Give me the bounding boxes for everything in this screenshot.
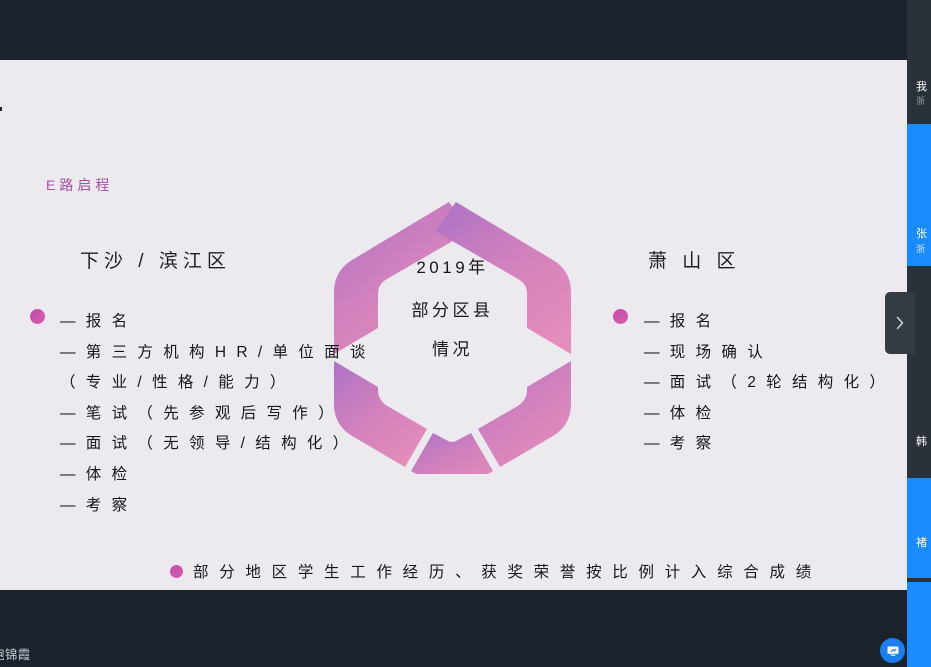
bottom-bar <box>0 590 907 667</box>
meeting-window: E路启程 <box>0 0 931 667</box>
bullet-dot-footer <box>170 565 183 578</box>
participant-name: 我 <box>916 82 927 93</box>
collapse-panel-button[interactable] <box>885 292 915 354</box>
participant-tile[interactable]: 我 浙 <box>907 60 931 124</box>
column-list-left: — 报 名 — 第 三 方 机 构 H R / 单 位 面 谈 （ 专 业 / … <box>60 307 368 521</box>
list-item: — 体 检 <box>60 460 368 491</box>
column-heading-left: 下沙 / 滨江区 <box>80 246 231 273</box>
shared-slide[interactable]: E路启程 <box>0 60 907 590</box>
list-item: — 笔 试 （ 先 参 观 后 写 作 ） <box>60 399 368 430</box>
participant-name: 张 <box>916 229 927 240</box>
participant-name: 韩 <box>916 437 927 448</box>
list-item: — 考 察 <box>644 429 888 460</box>
list-item: （ 专 业 / 性 格 / 能 力 ） <box>60 368 368 399</box>
bullet-dot-left <box>30 309 45 324</box>
participant-subtitle: 浙 <box>916 245 925 254</box>
participant-tile[interactable]: 韩 <box>907 416 931 478</box>
list-item: — 面 试 （ 2 轮 结 构 化 ） <box>644 368 888 399</box>
list-item: — 第 三 方 机 构 H R / 单 位 面 谈 <box>60 338 368 369</box>
participant-tile[interactable] <box>907 582 931 667</box>
column-list-right: — 报 名 — 现 场 确 认 — 面 试 （ 2 轮 结 构 化 ） — 体 … <box>644 307 888 460</box>
list-item: — 报 名 <box>60 307 368 338</box>
screen-share-icon <box>886 644 900 658</box>
slide-edge-marker <box>0 107 2 111</box>
list-item: — 体 检 <box>644 399 888 430</box>
participant-tile[interactable]: 张 浙 <box>907 124 931 266</box>
screen-share-button[interactable] <box>880 638 905 663</box>
participant-tile[interactable]: 褚 <box>907 478 931 578</box>
top-bar <box>0 0 907 60</box>
list-item: — 报 名 <box>644 307 888 338</box>
list-item: — 考 察 <box>60 491 368 522</box>
participant-name: 褚 <box>916 538 927 549</box>
slide-brand-logo: E路启程 <box>46 175 113 195</box>
presenter-name-label: 鲍锦霞 <box>0 644 31 663</box>
slide-footer-note: 部 分 地 区 学 生 工 作 经 历 、 获 奖 荣 誉 按 比 例 计 入 … <box>193 560 814 582</box>
chevron-right-icon <box>894 314 906 332</box>
list-item: — 现 场 确 认 <box>644 338 888 369</box>
column-heading-right: 萧 山 区 <box>648 246 741 273</box>
participant-subtitle: 浙 <box>916 97 925 106</box>
bullet-dot-right <box>613 309 628 324</box>
list-item: — 面 试 （ 无 领 导 / 结 构 化 ） <box>60 429 368 460</box>
